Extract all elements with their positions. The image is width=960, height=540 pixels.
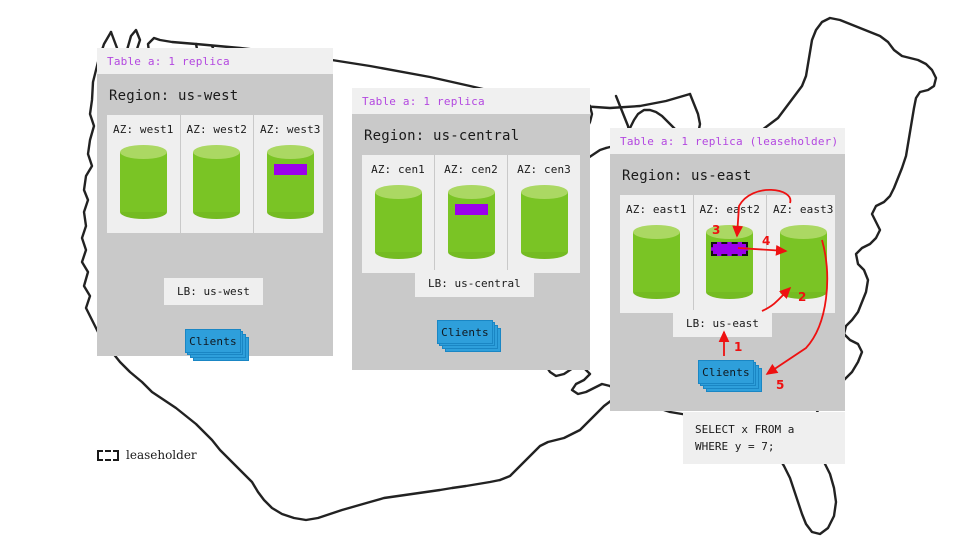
cylinder-top [448,185,495,199]
cylinder-body [267,152,314,212]
region-header-us-west: Table a: 1 replica [97,48,333,74]
cylinder-top [120,145,167,159]
region-body-us-west: Region: us-west AZ: west1 AZ: west2 [97,74,333,356]
database-cylinder-east2 [706,225,753,299]
cylinder-body [633,232,680,292]
az-label-cen1: AZ: cen1 [368,163,428,176]
region-title-us-east: Region: us-east [620,164,835,195]
cylinder-body [375,192,422,252]
clients-label: Clients [698,360,754,384]
database-cylinder-west2 [193,145,240,219]
az-cell-east3[interactable]: AZ: east3 [767,195,840,313]
database-cylinder-east3 [780,225,827,299]
az-cell-cen3[interactable]: AZ: cen3 [508,155,580,273]
replica-indicator-cen2 [455,204,488,215]
az-label-west3: AZ: west3 [260,123,321,136]
region-header-us-central: Table a: 1 replica [352,88,590,114]
az-label-east3: AZ: east3 [773,203,834,216]
az-row-us-west: AZ: west1 AZ: west2 AZ [107,115,323,233]
sql-query-box: SELECT x FROM a WHERE y = 7; [683,412,845,464]
clients-stack-us-central[interactable]: Clients [437,320,493,344]
cylinder-top [193,145,240,159]
az-label-east1: AZ: east1 [626,203,687,216]
clients-stack-us-west[interactable]: Clients [185,329,241,353]
cylinder-body [521,192,568,252]
cylinder-top [267,145,314,159]
database-cylinder-east1 [633,225,680,299]
az-cell-west1[interactable]: AZ: west1 [107,115,181,233]
clients-label: Clients [437,320,493,344]
diagram-canvas: Table a: 1 replica Region: us-west AZ: w… [0,0,960,540]
az-cell-east1[interactable]: AZ: east1 [620,195,694,313]
clients-label: Clients [185,329,241,353]
legend: leaseholder [97,448,197,462]
cylinder-top [780,225,827,239]
az-label-cen3: AZ: cen3 [514,163,574,176]
az-row-us-central: AZ: cen1 AZ: cen2 [362,155,580,273]
region-panel-us-east: Table a: 1 replica (leaseholder) Region:… [610,128,845,411]
cylinder-body [448,192,495,252]
cylinder-top [521,185,568,199]
database-cylinder-cen3 [521,185,568,259]
az-label-cen2: AZ: cen2 [441,163,501,176]
cylinder-body [120,152,167,212]
az-cell-east2[interactable]: AZ: east2 [694,195,768,313]
clients-stack-us-east[interactable]: Clients [698,360,754,384]
cylinder-top [375,185,422,199]
az-row-us-east: AZ: east1 AZ: east2 [620,195,835,313]
cylinder-body [193,152,240,212]
database-cylinder-west3 [267,145,314,219]
cylinder-top [633,225,680,239]
cylinder-body [780,232,827,292]
replica-indicator-west3 [274,164,307,175]
az-cell-west3[interactable]: AZ: west3 [254,115,327,233]
az-label-west2: AZ: west2 [187,123,248,136]
region-panel-us-west: Table a: 1 replica Region: us-west AZ: w… [97,48,333,356]
region-title-us-west: Region: us-west [107,84,323,115]
az-label-west1: AZ: west1 [113,123,174,136]
leaseholder-replica-indicator-east2 [711,242,748,256]
legend-label: leaseholder [126,448,197,462]
database-cylinder-cen2 [448,185,495,259]
az-cell-cen2[interactable]: AZ: cen2 [435,155,508,273]
load-balancer-us-central[interactable]: LB: us-central [415,270,534,297]
load-balancer-us-west[interactable]: LB: us-west [164,278,263,305]
leaseholder-swatch-icon [97,450,119,461]
region-header-us-east: Table a: 1 replica (leaseholder) [610,128,845,154]
cylinder-top [706,225,753,239]
az-cell-west2[interactable]: AZ: west2 [181,115,255,233]
database-cylinder-west1 [120,145,167,219]
az-label-east2: AZ: east2 [700,203,761,216]
region-title-us-central: Region: us-central [362,124,580,155]
az-cell-cen1[interactable]: AZ: cen1 [362,155,435,273]
region-panel-us-central: Table a: 1 replica Region: us-central AZ… [352,88,590,370]
cylinder-body [706,232,753,292]
load-balancer-us-east[interactable]: LB: us-east [673,310,772,337]
database-cylinder-cen1 [375,185,422,259]
